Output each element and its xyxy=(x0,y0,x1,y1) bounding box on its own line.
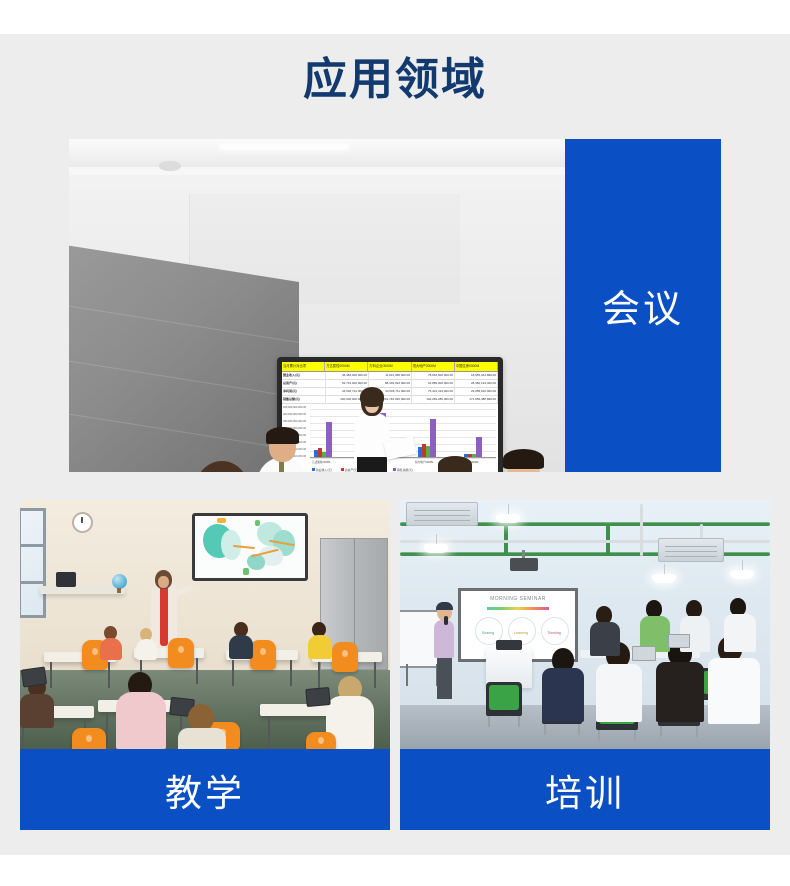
attendee-body xyxy=(708,658,760,724)
student-body xyxy=(308,635,332,659)
pendant-light xyxy=(652,574,676,583)
attendee-hair xyxy=(266,427,299,444)
cell: 88,339,094,000.00 xyxy=(369,380,412,387)
pendant-light xyxy=(424,544,448,553)
cell: 36,484,000,000.00 xyxy=(326,372,369,379)
student-chair xyxy=(168,638,194,668)
application-fields-poster: 应用领域 当月累计对比项 xyxy=(0,0,790,886)
y-tick: 400,000,000,000.00 xyxy=(283,413,306,416)
legend-item: 销售总额(元) xyxy=(393,468,413,472)
training-label: 培训 xyxy=(545,763,625,817)
presenter-skirt xyxy=(357,457,387,472)
student-body xyxy=(20,694,54,728)
projector xyxy=(510,558,538,571)
attendee-body xyxy=(596,664,642,722)
teacher-scarf xyxy=(160,586,168,646)
student-body xyxy=(100,638,122,660)
slide-heading: MORNING SEMINAR xyxy=(461,596,575,602)
attendee-body xyxy=(590,622,620,656)
table-row: 总资产(元) 52,743,000,000.00 88,339,094,000.… xyxy=(282,380,498,388)
section-row-2: 教学 xyxy=(20,500,770,830)
whiteboard-content xyxy=(195,516,305,578)
presenter-hair xyxy=(360,387,384,407)
meeting-label-panel[interactable]: 会议 xyxy=(565,139,721,472)
attendee-hair xyxy=(438,456,472,472)
cell: 销售总额(元) xyxy=(282,396,326,403)
monitor xyxy=(56,572,76,587)
header-cell: 万达属性0000M xyxy=(325,362,368,371)
spreadsheet-header-row: 当月累计对比项 万达属性0000M 万科企业0000M 恒大地产0000M 中国… xyxy=(282,362,498,372)
globe-stand xyxy=(117,588,121,593)
header-cell: 中国住房0000M xyxy=(455,362,498,371)
cell: 18,955,444,899.00 xyxy=(455,372,498,379)
page-title: 应用领域 xyxy=(0,55,790,105)
meeting-label: 会议 xyxy=(602,278,684,333)
cell: 29,058,620,000.00 xyxy=(455,388,498,395)
teaching-label-bar[interactable]: 教学 xyxy=(20,749,390,830)
window xyxy=(20,508,46,618)
microphone-icon xyxy=(444,616,448,625)
header-cell: 万科企业0000M xyxy=(368,362,411,371)
globe xyxy=(112,574,127,589)
teacher-face xyxy=(158,576,169,588)
smoke-detector-icon xyxy=(159,161,181,171)
wall-clock-icon xyxy=(72,512,93,533)
table-row: 净利润(元) 34,536,712,000.00 34,506,711,000.… xyxy=(282,388,498,396)
laptop xyxy=(632,646,656,661)
cell: 11,831,358,000.00 xyxy=(369,372,412,379)
attendee-body xyxy=(656,662,704,722)
x-tick: 恒大地产0000M xyxy=(415,460,433,464)
ceiling-conduit xyxy=(640,504,643,556)
legend-item: 营业收入(元) xyxy=(312,468,332,472)
x-tick: 万达属性0000M xyxy=(312,460,330,464)
section-teaching[interactable]: 教学 xyxy=(20,500,390,830)
tablet-device xyxy=(21,666,47,687)
teacher-desk xyxy=(40,586,125,594)
header-cell: 恒大地产0000M xyxy=(412,362,455,371)
cell: 78,663,500,000.00 xyxy=(412,372,455,379)
slide-item: Sharing xyxy=(475,631,501,635)
header-cell: 当月累计对比项 xyxy=(282,362,325,371)
laptop xyxy=(668,634,690,648)
teaching-photo xyxy=(20,500,390,749)
presenter-cap xyxy=(436,602,453,610)
legend-item: 总资产(元) xyxy=(341,468,358,472)
cell: 28,460,194,400.00 xyxy=(455,380,498,387)
student-body xyxy=(136,639,157,660)
student-chair xyxy=(72,728,106,749)
presenter-body xyxy=(434,620,454,658)
tablet-device xyxy=(305,687,330,707)
cell: 营业收入(元) xyxy=(282,372,326,379)
cell: 52,743,000,000.00 xyxy=(326,380,369,387)
y-tick: 450,000,000,000.00 xyxy=(283,406,306,409)
table-row: 营业收入(元) 36,484,000,000.00 11,831,358,000… xyxy=(282,372,498,380)
student-body xyxy=(178,728,226,749)
attendee-hair xyxy=(503,449,544,469)
student-chair xyxy=(306,732,336,749)
training-room-scene: MORNING SEMINAR Sharing Learning Thinkin… xyxy=(400,500,770,749)
pipe-riser xyxy=(606,522,610,556)
audience-chair xyxy=(486,682,522,716)
section-meeting[interactable]: 当月累计对比项 万达属性0000M 万科企业0000M 恒大地产0000M 中国… xyxy=(69,139,721,472)
pendant-light xyxy=(496,514,520,523)
attendee-body xyxy=(724,614,756,652)
cell: 91,889,000,000.00 xyxy=(412,380,455,387)
ceiling-edge xyxy=(69,167,565,175)
meeting-photo: 当月累计对比项 万达属性0000M 万科企业0000M 恒大地产0000M 中国… xyxy=(69,139,565,472)
training-photo: MORNING SEMINAR Sharing Learning Thinkin… xyxy=(400,500,770,749)
cell: 总资产(元) xyxy=(282,380,326,387)
ac-unit xyxy=(658,538,724,562)
y-tick: 350,000,000,000.00 xyxy=(283,420,306,423)
necktie xyxy=(279,461,284,472)
classroom-scene xyxy=(20,500,390,749)
cell: 162,284,289,000.00 xyxy=(412,396,455,403)
ceiling-light xyxy=(219,144,349,150)
ac-unit xyxy=(406,502,478,526)
teaching-label: 教学 xyxy=(165,763,245,817)
slide-item: Learning xyxy=(508,631,534,635)
pipe-riser xyxy=(504,522,508,556)
cell: 76,401,319,000.00 xyxy=(412,388,455,395)
training-label-bar[interactable]: 培训 xyxy=(400,749,770,830)
cubicle-partition xyxy=(69,244,299,472)
cell: 净利润(元) xyxy=(282,388,326,395)
cell: 171,955,488,899.00 xyxy=(455,396,498,403)
conference-room-scene: 当月累计对比项 万达属性0000M 万科企业0000M 恒大地产0000M 中国… xyxy=(69,139,565,472)
podium-equipment xyxy=(496,640,522,650)
student-body xyxy=(229,635,253,659)
presenter-legs xyxy=(437,657,452,699)
attendee-body xyxy=(542,668,584,722)
section-training[interactable]: MORNING SEMINAR Sharing Learning Thinkin… xyxy=(400,500,770,830)
student-chair xyxy=(332,642,358,672)
slide-item: Thinking xyxy=(541,631,567,635)
student-chair xyxy=(250,640,276,670)
interactive-whiteboard xyxy=(192,513,308,581)
table-row: 销售总额(元) 400,000,000,000.00 261,746,925,0… xyxy=(282,396,498,404)
pendant-light xyxy=(730,570,754,579)
student-body xyxy=(116,692,166,749)
